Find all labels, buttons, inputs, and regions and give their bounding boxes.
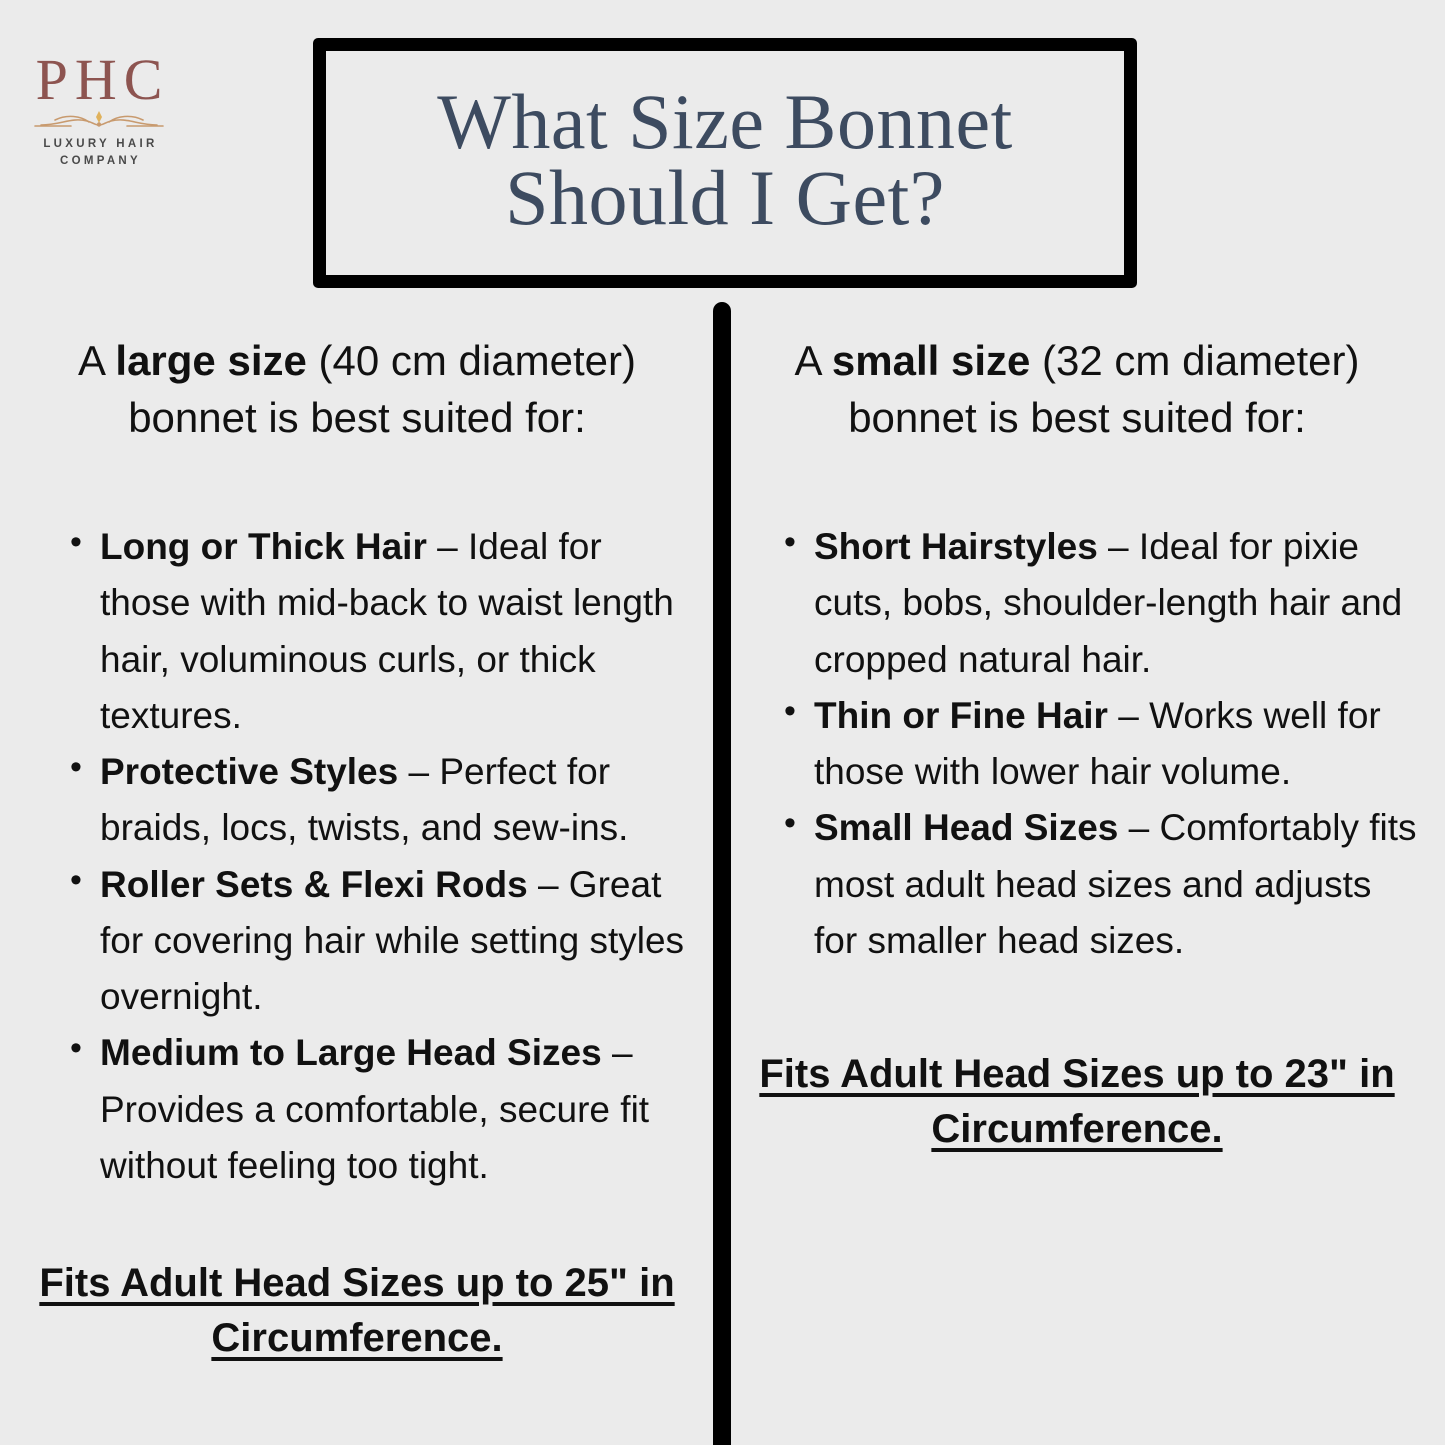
heading-prefix: A [78,337,115,384]
bullet-term: Short Hairstyles [814,526,1098,567]
brand-tagline-line-1: LUXURY HAIR [14,136,184,153]
list-item: Short Hairstyles – Ideal for pixie cuts,… [784,519,1422,688]
bullet-term: Thin or Fine Hair [814,695,1108,736]
list-item: Protective Styles – Perfect for braids, … [70,744,702,856]
column-heading-small: A small size (32 cm diameter) bonnet is … [732,332,1422,446]
page-title-line-1: What Size Bonnet [437,78,1013,165]
heading-emphasis: small size [832,337,1030,384]
column-large-size: A large size (40 cm diameter) bonnet is … [12,332,702,1366]
brand-tagline-line-2: COMPANY [14,153,184,170]
list-item: Thin or Fine Hair – Works well for those… [784,688,1422,800]
bullet-list-small: Short Hairstyles – Ideal for pixie cuts,… [732,519,1422,969]
footnote-large: Fits Adult Head Sizes up to 25" in Circu… [12,1256,702,1366]
heading-emphasis: large size [115,337,306,384]
list-item: Long or Thick Hair – Ideal for those wit… [70,519,702,744]
bullet-term: Roller Sets & Flexi Rods [100,864,528,905]
bullet-term: Long or Thick Hair [100,526,427,567]
bullet-term: Protective Styles [100,751,398,792]
list-item: Medium to Large Head Sizes – Provides a … [70,1025,702,1194]
footnote-small: Fits Adult Head Sizes up to 23" in Circu… [732,1047,1422,1157]
title-box: What Size Bonnet Should I Get? [313,38,1137,288]
column-divider [713,302,731,1445]
brand-monogram: PHC [14,52,184,107]
column-heading-large: A large size (40 cm diameter) bonnet is … [12,332,702,446]
column-small-size: A small size (32 cm diameter) bonnet is … [732,332,1422,1157]
page-title: What Size Bonnet Should I Get? [437,84,1013,243]
flourish-ornament-icon [14,108,184,134]
heading-prefix: A [795,337,832,384]
bullet-term: Medium to Large Head Sizes [100,1032,602,1073]
list-item: Small Head Sizes – Comfortably fits most… [784,800,1422,969]
page-title-line-2: Should I Get? [437,160,1013,236]
list-item: Roller Sets & Flexi Rods – Great for cov… [70,857,702,1026]
bullet-term: Small Head Sizes [814,807,1118,848]
bullet-list-large: Long or Thick Hair – Ideal for those wit… [12,519,702,1194]
brand-logo: PHC LUXURY HAIR COMPANY [14,52,184,169]
